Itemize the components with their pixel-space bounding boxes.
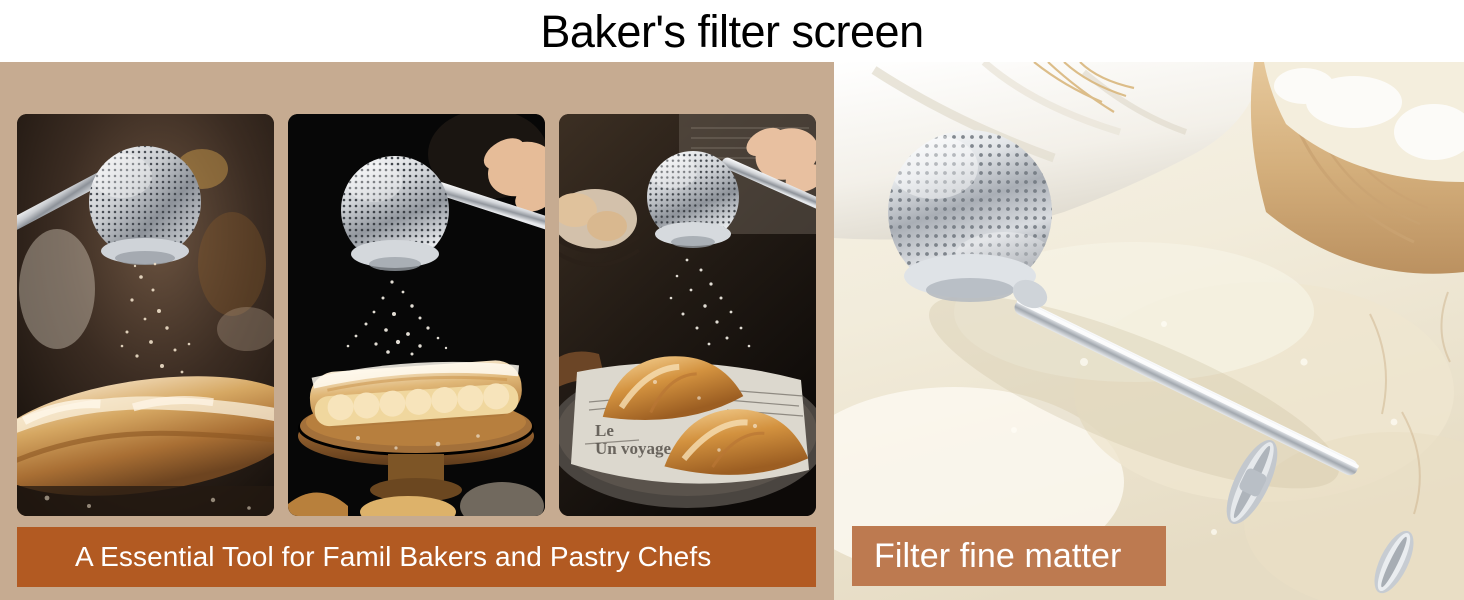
- baguette-dusting-photo: [17, 114, 274, 516]
- product-marketing-banner: Baker's filter screen: [0, 0, 1464, 600]
- photo-tile-baguette: [17, 114, 274, 516]
- svg-text:Le: Le: [595, 421, 614, 440]
- croissant-dusting-photo: Le Un voyage: [559, 114, 816, 516]
- left-caption-text: A Essential Tool for Famil Bakers and Pa…: [17, 542, 711, 572]
- header-bar: Baker's filter screen: [0, 0, 1464, 62]
- sifter-on-flour-photo: [834, 62, 1464, 600]
- panels-container: Le Un voyage: [0, 62, 1464, 600]
- photo-tile-croissant: Le Un voyage: [559, 114, 816, 516]
- photo-tile-row: Le Un voyage: [17, 114, 817, 516]
- pastry-dusting-photo: [288, 114, 545, 516]
- left-caption-banner: A Essential Tool for Famil Bakers and Pa…: [17, 527, 816, 587]
- right-caption-text: Filter fine matter: [852, 538, 1121, 574]
- left-panel: Le Un voyage: [0, 62, 834, 600]
- page-title: Baker's filter screen: [540, 9, 923, 54]
- right-panel: Filter fine matter: [834, 62, 1464, 600]
- svg-text:Un voyage: Un voyage: [595, 439, 671, 458]
- right-caption-banner: Filter fine matter: [852, 526, 1166, 586]
- photo-tile-pastry: [288, 114, 545, 516]
